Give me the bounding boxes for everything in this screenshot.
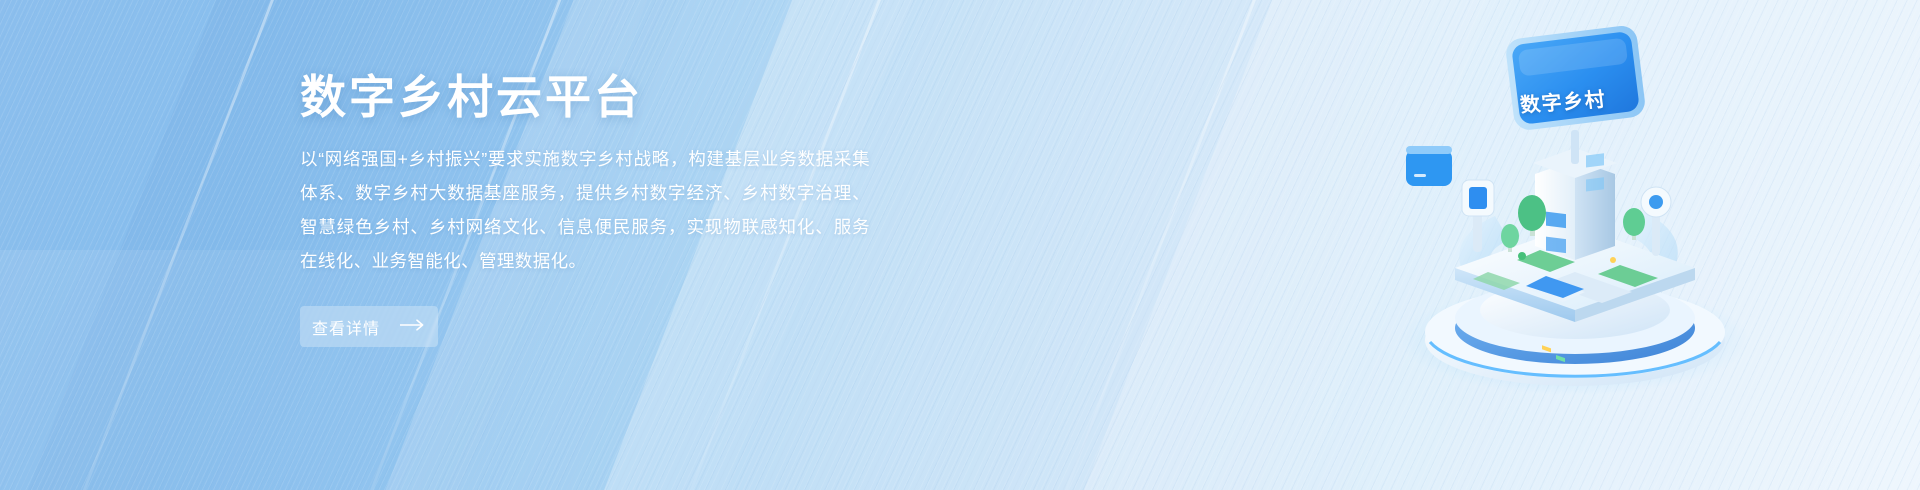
background-edge-1 <box>2 0 350 490</box>
tree-crown-2 <box>1623 208 1645 236</box>
billboard-pole <box>1571 130 1579 164</box>
banner-description: 以“网络强国+乡村振兴”要求实施数字乡村战略，构建基层业务数据采集体系、数字乡村… <box>300 142 870 278</box>
banner-content: 数字乡村云平台 以“网络强国+乡村振兴”要求实施数字乡村战略，构建基层业务数据采… <box>300 70 900 347</box>
building-window-c <box>1586 153 1604 167</box>
status-dot-yellow <box>1610 257 1616 263</box>
billboard <box>1504 24 1646 131</box>
building-window-b <box>1546 237 1566 253</box>
background-edge-4 <box>1007 0 1355 490</box>
kiosk-screen <box>1469 187 1487 209</box>
view-details-button[interactable]: 查看详情 <box>300 306 438 347</box>
tree-crown-1 <box>1518 195 1546 231</box>
arrow-right-icon <box>400 318 426 336</box>
floating-card-top <box>1406 146 1452 154</box>
building-window-a <box>1546 212 1566 228</box>
hero-banner: 数字乡村云平台 以“网络强国+乡村振兴”要求实施数字乡村战略，构建基层业务数据采… <box>0 0 1920 490</box>
lamp-lens <box>1649 195 1663 209</box>
building-window-d <box>1586 177 1604 191</box>
floating-card-line <box>1414 174 1426 177</box>
page-title: 数字乡村云平台 <box>300 70 900 124</box>
tree-crown-3 <box>1501 224 1519 248</box>
village-scene-svg <box>1370 10 1790 410</box>
digital-village-illustration: 数字乡村 <box>1370 10 1790 410</box>
floating-card <box>1406 146 1452 186</box>
floating-card-body <box>1406 150 1452 186</box>
status-dot-green <box>1518 252 1526 260</box>
view-details-label: 查看详情 <box>312 315 380 339</box>
